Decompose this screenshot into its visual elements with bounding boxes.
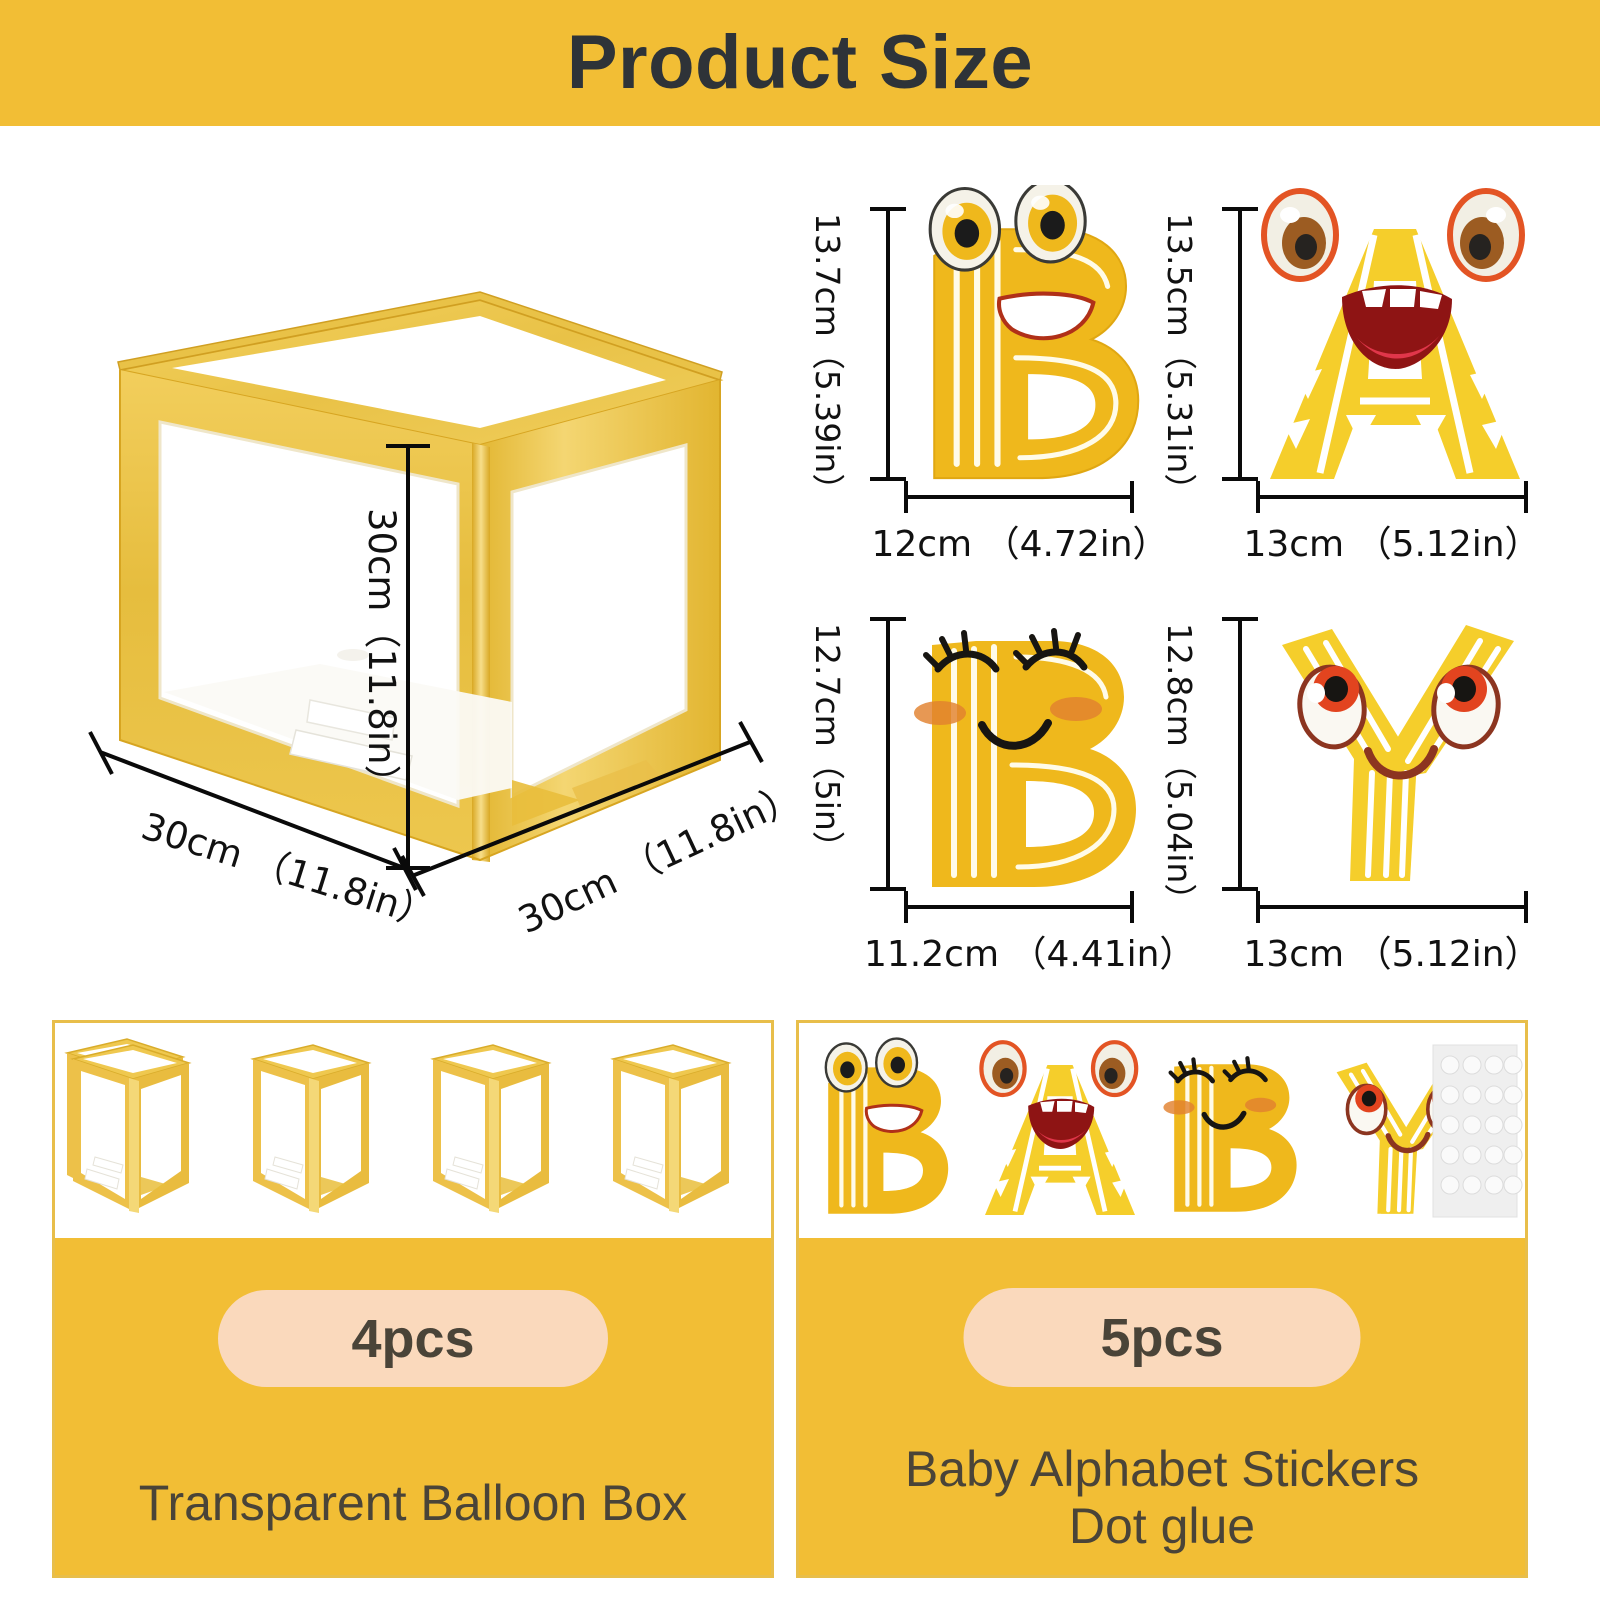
panel-right-body: 5pcs Baby Alphabet Stickers Dot glue [799, 1238, 1525, 1575]
letter-cell-y: 12.8cm（5.04in） 13cm （5.12in） [1170, 593, 1570, 973]
letter-b-googly-width: 12cm （4.72in） [870, 515, 1170, 567]
page-title: Product Size [567, 25, 1033, 101]
four-boxes-illustration [55, 1023, 771, 1235]
panel-right-caption-line-2: Dot glue [799, 1498, 1525, 1555]
letter-b-lashes-height: 12.7cm（5in） [806, 623, 854, 864]
letter-a-icon [1170, 185, 1570, 565]
panel-baby-alphabet-stickers: 5pcs Baby Alphabet Stickers Dot glue [796, 1020, 1528, 1578]
letter-cell-b-lashes: 12.7cm（5in） 11.2cm （4.41in） [810, 593, 1180, 973]
letter-y-icon [1170, 593, 1570, 973]
letter-b-googly-height: 13.7cm（5.39in） [806, 213, 854, 506]
baby-letters-and-glue-illustration [799, 1023, 1525, 1235]
page-header: Product Size [0, 0, 1600, 126]
dot-glue-sheet [1433, 1045, 1522, 1217]
letter-a-height: 13.5cm（5.31in） [1158, 213, 1206, 506]
letter-y-height: 12.8cm（5.04in） [1158, 623, 1206, 916]
quantity-badge-left: 4pcs [218, 1290, 608, 1387]
baby-letters-photo-strip [799, 1023, 1525, 1238]
quantity-badge-right: 5pcs [964, 1288, 1361, 1387]
letter-cell-b-googly: 13.7cm（5.39in） 12cm （4.72in） [810, 185, 1180, 565]
panel-left-body: 4pcs Transparent Balloon Box [55, 1238, 771, 1575]
letter-b-lashes-icon [810, 593, 1180, 973]
panel-right-caption-line-1: Baby Alphabet Stickers [799, 1441, 1525, 1498]
box-dimension-diagram: 30cm（11.8in） 30cm （11.8in） 30cm （11.8in） [60, 240, 800, 960]
letter-b-googly-icon [810, 185, 1180, 565]
panel-right-caption: Baby Alphabet Stickers Dot glue [799, 1441, 1525, 1554]
letter-y-width: 13cm （5.12in） [1242, 925, 1542, 977]
balloon-box-photo-strip [55, 1023, 771, 1238]
letter-size-grid: 13.7cm（5.39in） 12cm （4.72in） [810, 185, 1570, 975]
letter-cell-a: 13.5cm（5.31in） 13cm （5.12in） [1170, 185, 1570, 565]
panel-left-caption: Transparent Balloon Box [55, 1475, 771, 1532]
box-height-dimension: 30cm（11.8in） [358, 508, 412, 802]
letter-b-lashes-width: 11.2cm （4.41in） [864, 925, 1176, 977]
letter-a-width: 13cm （5.12in） [1242, 515, 1542, 567]
panel-transparent-balloon-box: 4pcs Transparent Balloon Box [52, 1020, 774, 1578]
